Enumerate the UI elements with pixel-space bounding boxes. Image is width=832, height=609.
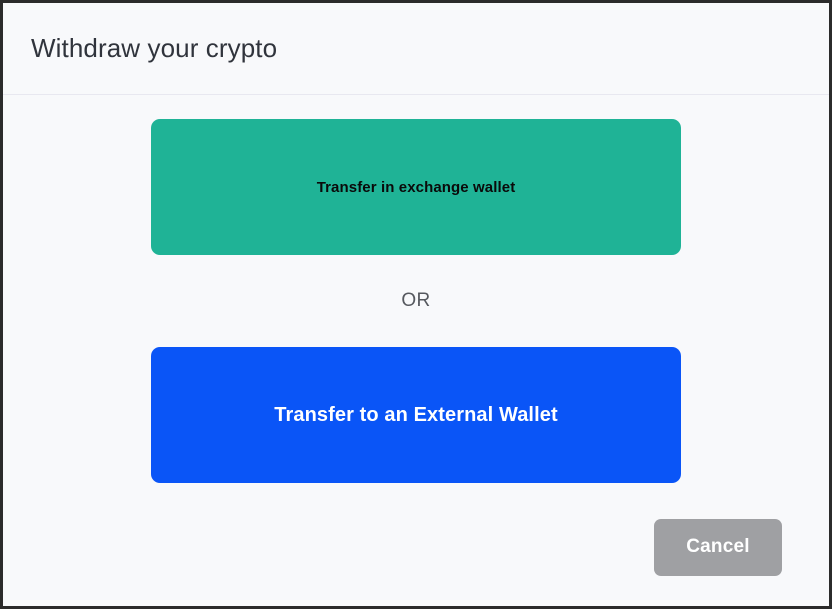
modal-body: Transfer in exchange wallet OR Transfer … [3, 95, 829, 488]
modal-header: Withdraw your crypto [3, 3, 829, 95]
withdraw-crypto-modal: Withdraw your crypto Transfer in exchang… [3, 3, 829, 606]
cancel-button-label: Cancel [686, 536, 750, 558]
page-title: Withdraw your crypto [31, 33, 277, 64]
transfer-in-exchange-wallet-button[interactable]: Transfer in exchange wallet [151, 119, 681, 255]
transfer-to-external-wallet-button[interactable]: Transfer to an External Wallet [151, 347, 681, 483]
transfer-in-exchange-wallet-label: Transfer in exchange wallet [317, 179, 516, 196]
or-separator: OR [401, 255, 430, 347]
cancel-button[interactable]: Cancel [654, 519, 782, 576]
transfer-to-external-wallet-label: Transfer to an External Wallet [274, 404, 557, 427]
modal-footer: Cancel [3, 488, 829, 606]
window-frame: Withdraw your crypto Transfer in exchang… [0, 0, 832, 609]
